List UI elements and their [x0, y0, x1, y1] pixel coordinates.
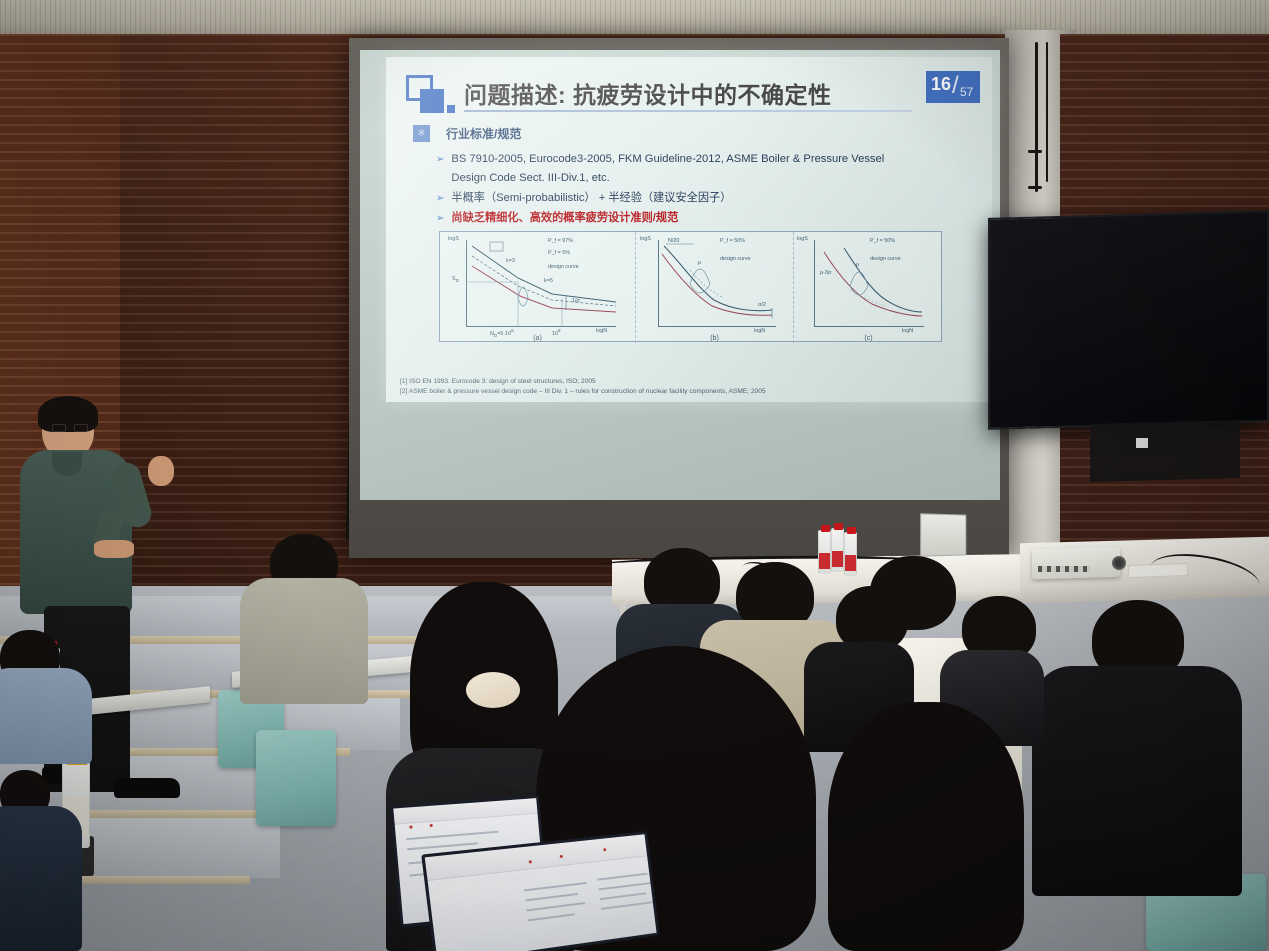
- chart-b-legend-1: design curve: [720, 256, 751, 262]
- section-header-label: 行业标准/规范: [446, 125, 521, 142]
- bullet-line: BS 7910-2005, Eurocode3-2005, FKM Guidel…: [451, 150, 936, 169]
- wall-cable-4: [1028, 186, 1042, 189]
- bullet-line-cont: Design Code Sect. III-Div.1, etc.: [451, 169, 936, 188]
- student-torso: [240, 578, 368, 704]
- chart-a-curves: [440, 232, 636, 343]
- chart-c-legend-0: P_f = 50%: [870, 238, 895, 244]
- presentation-slide[interactable]: 问题描述: 抗疲劳设计中的不确定性 16 / 57 ※ 行业标准/规范 ➢ BS…: [386, 57, 992, 402]
- chart-c-legend-1: design curve: [870, 256, 901, 262]
- student-torso: [1032, 666, 1242, 896]
- chart-panel-b: logS logN N/20 μ σ/2 P_f = 50% design cu…: [636, 232, 794, 343]
- bottle-label: [845, 555, 856, 571]
- chart-a-caption: (a): [440, 335, 635, 342]
- presenter-hand: [94, 540, 134, 558]
- bullet-arrow-icon: ➢: [436, 150, 444, 188]
- presenter-fist: [148, 456, 174, 486]
- presenter-laptop[interactable]: [920, 513, 966, 556]
- bottle-label: [832, 551, 843, 567]
- bullet-line: 半概率（Semi-probabilistic） + 半经验（建议安全因子）: [451, 189, 936, 208]
- water-bottle: [831, 528, 844, 572]
- laptop-content-line: [406, 831, 498, 840]
- hair-scrunchie: [466, 672, 520, 708]
- wall-cable-2: [1046, 42, 1048, 182]
- chart-panel-c: logS logN μ-3σ μ P_f = 50% design curve …: [794, 232, 943, 343]
- bullet-item: ➢ 半概率（Semi-probabilistic） + 半经验（建议安全因子）: [436, 189, 936, 208]
- presenter-shoe-left: [114, 778, 180, 798]
- slide-title-rule: [464, 110, 912, 112]
- water-bottle: [818, 530, 831, 574]
- wall-mounted-tv[interactable]: [988, 210, 1269, 430]
- slide-figure: logS logN SD ND=5·106 108 k=3 k=5 1/σ: [439, 231, 942, 342]
- slide-page-slash-icon: /: [952, 72, 959, 100]
- projector[interactable]: [1032, 547, 1120, 579]
- bottle-cap-icon: [847, 527, 856, 534]
- slide-page-total: 57: [960, 85, 973, 99]
- bullet-arrow-icon: ➢: [436, 209, 444, 228]
- laptop-content-line: [597, 873, 647, 881]
- bottle-cap-icon: [821, 525, 830, 532]
- wall-cable-3: [1028, 150, 1042, 153]
- slide-title: 问题描述: 抗疲劳设计中的不确定性: [464, 76, 832, 110]
- bottle-cap-icon: [834, 523, 843, 530]
- bullet-arrow-icon: ➢: [436, 189, 444, 208]
- student-hair-long: [828, 702, 1024, 951]
- laptop-content-line: [599, 882, 653, 891]
- chart-a-legend-1: P_f = 5%: [548, 250, 570, 256]
- glasses-icon: [52, 424, 88, 432]
- wall-cable-1: [1035, 42, 1038, 192]
- slide-references: [1] ISO EN 1993. Eurocode 3: design of s…: [400, 377, 766, 396]
- slide-page-number: 16: [931, 74, 951, 95]
- section-marker-icon: ※: [413, 125, 430, 142]
- water-bottle: [844, 532, 857, 576]
- lecture-chair[interactable]: [256, 730, 336, 826]
- slide-section-header: ※ 行业标准/规范: [413, 125, 521, 142]
- chart-a-legend-2: design curve: [548, 264, 579, 270]
- ceiling-band: [0, 0, 1269, 38]
- laptop-icon-dot: [430, 824, 433, 827]
- slide-page-badge: 16 / 57: [926, 71, 980, 103]
- chart-panel-a: logS logN SD ND=5·106 108 k=3 k=5 1/σ: [440, 232, 636, 343]
- lecture-hall-scene: 问题描述: 抗疲劳设计中的不确定性 16 / 57 ※ 行业标准/规范 ➢ BS…: [0, 0, 1269, 951]
- chart-b-legend-0: P_f = 50%: [720, 238, 745, 244]
- bottle-label: [819, 553, 830, 569]
- laptop-content-line: [527, 902, 585, 911]
- projector-ports-icon: [1038, 566, 1090, 572]
- chart-c-curves: [794, 232, 943, 343]
- slide-bullet-list: ➢ BS 7910-2005, Eurocode3-2005, FKM Guid…: [436, 150, 936, 229]
- chart-c-caption: (c): [794, 335, 943, 342]
- laptop-content-line: [524, 882, 586, 891]
- tv-stand-indicator-icon: [1136, 438, 1148, 448]
- student-torso: [0, 806, 82, 951]
- slide-logo-icon: [406, 75, 450, 115]
- laptop-content-line: [528, 913, 575, 921]
- reference-item: [1] ISO EN 1993. Eurocode 3: design of s…: [400, 377, 766, 387]
- presenter-collar: [52, 452, 82, 476]
- laptop-content-line: [601, 901, 653, 910]
- laptop-content-line: [525, 893, 578, 901]
- student-torso: [0, 668, 92, 764]
- chart-b-curves: [636, 232, 794, 343]
- reference-item: [2] ASME boiler & pressure vessel design…: [400, 387, 766, 397]
- laptop-content-line: [600, 892, 647, 900]
- chart-a-legend-0: P_f = 97%: [548, 238, 573, 244]
- laptop-icon-dot: [409, 825, 412, 828]
- chart-b-caption: (b): [636, 335, 793, 342]
- projector-lens-icon: [1112, 556, 1126, 570]
- bullet-item: ➢ BS 7910-2005, Eurocode3-2005, FKM Guid…: [436, 150, 936, 188]
- tv-stand: [1090, 420, 1240, 482]
- bullet-line: 尚缺乏精细化、高效的概率疲劳设计准则/规范: [451, 209, 936, 228]
- bullet-item-emphasis: ➢ 尚缺乏精细化、高效的概率疲劳设计准则/规范: [436, 209, 936, 228]
